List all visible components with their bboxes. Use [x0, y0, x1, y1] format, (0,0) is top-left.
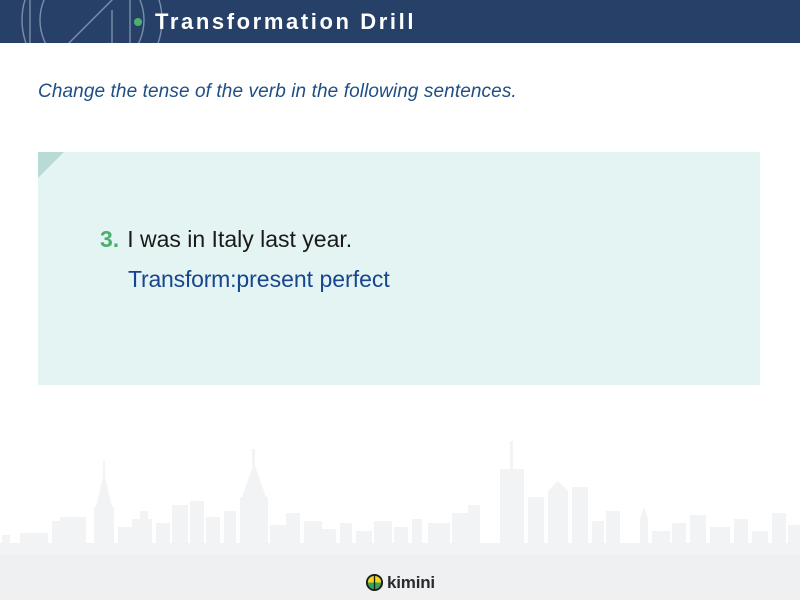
kimini-globe-icon: [365, 573, 384, 592]
green-dot-icon: [134, 18, 142, 26]
instruction-text: Change the tense of the verb in the foll…: [38, 81, 517, 103]
city-skyline-silhouette-icon: [0, 435, 800, 555]
transform-row: Transform:present perfect: [128, 268, 740, 291]
exercise-card: 3. I was in Italy last year. Transform:p…: [38, 152, 760, 385]
transform-value: present perfect: [236, 266, 389, 292]
brand-name: kimini: [387, 574, 435, 591]
transform-label: Transform:: [128, 266, 236, 292]
slide-header: Transformation Drill: [0, 0, 800, 43]
exercise-content: 3. I was in Italy last year. Transform:p…: [100, 228, 740, 291]
question-sentence: I was in Italy last year.: [127, 228, 352, 251]
header-title-group: Transformation Drill: [134, 0, 416, 43]
question-row: 3. I was in Italy last year.: [100, 228, 740, 251]
brand-logo: kimini: [0, 573, 800, 592]
slide-canvas: Transformation Drill Change the tense of…: [0, 0, 800, 600]
question-number: 3.: [100, 228, 119, 251]
page-title: Transformation Drill: [155, 11, 416, 33]
folded-corner-icon: [38, 152, 64, 178]
